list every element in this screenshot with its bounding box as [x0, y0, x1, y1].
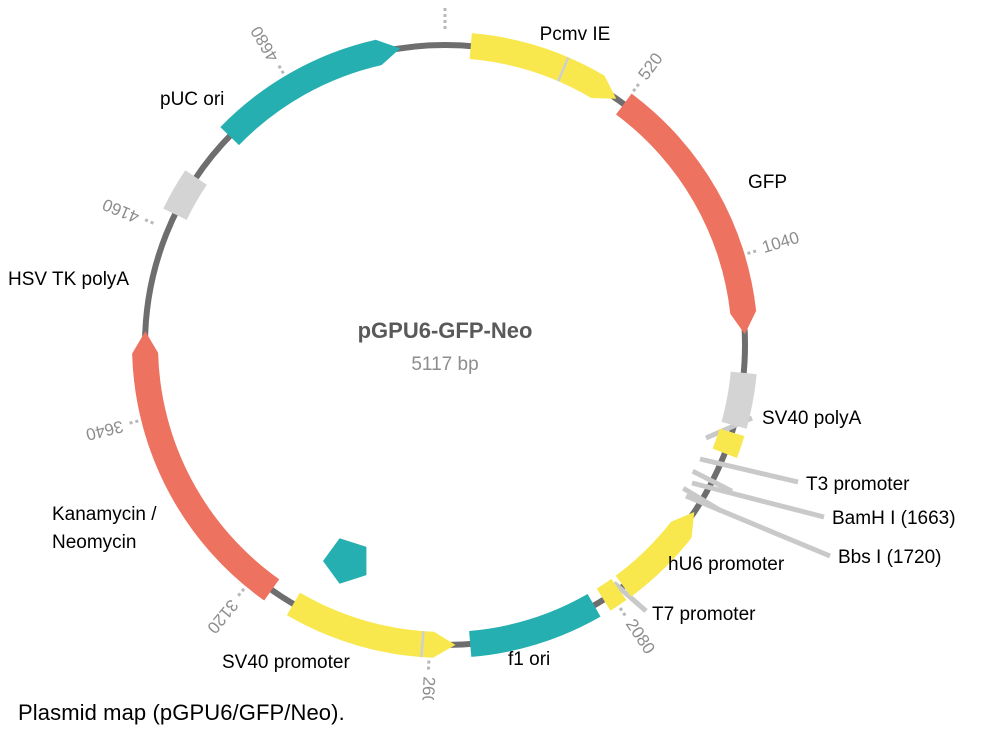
tick-mark-3120 [238, 589, 244, 597]
feature-label-f1-ori[interactable]: f1 ori [508, 649, 550, 670]
feature-label-bbs-i-1720[interactable]: Bbs I (1720) [838, 547, 942, 568]
tick-label-3120: 3120 [203, 596, 242, 637]
feature-kanamycin-neomycin[interactable] [132, 331, 279, 600]
tick-mark-3640 [129, 421, 139, 423]
tick-label-520: 520 [634, 49, 666, 83]
plasmid-name: pGPU6-GFP-Neo [358, 318, 533, 343]
plasmid-size: 5117 bp [411, 354, 478, 375]
feature-f1-ori[interactable] [469, 594, 600, 657]
feature-label-kanamycin-neomycin-line2[interactable]: Neomycin [52, 532, 136, 553]
tick-mark-2600 [428, 661, 429, 671]
tick-label-2600: 2600 [418, 676, 439, 700]
tick-label-1040: 1040 [760, 228, 802, 257]
tick-mark-4160 [144, 219, 153, 223]
plasmid-map-figure: 5201040208026003120364041604680 Pcmv IEG… [0, 0, 982, 744]
tick-label-3640: 3640 [84, 417, 125, 445]
plasmid-circular-map: 5201040208026003120364041604680 Pcmv IEG… [0, 0, 982, 700]
feature-label-puc-ori[interactable]: pUC ori [160, 89, 224, 110]
feature-label-bamh-i-1663[interactable]: BamH I (1663) [832, 508, 956, 529]
feature-label-t7-promoter[interactable]: T7 promoter [652, 604, 756, 625]
feature-sv40-ori[interactable] [323, 538, 366, 584]
feature-puc-ori[interactable] [220, 40, 400, 145]
feature-label-sv40-polya[interactable]: SV40 polyA [762, 408, 862, 429]
feature-label-hsv-tk-polya[interactable]: HSV TK polyA [8, 269, 129, 290]
tick-label-4680: 4680 [247, 23, 283, 65]
feature-sv40-promoter[interactable] [287, 593, 456, 658]
feature-label-hu6-promoter[interactable]: hU6 promoter [668, 554, 785, 575]
feature-layer [132, 33, 757, 658]
feature-label-kanamycin-neomycin[interactable]: Kanamycin / [52, 504, 157, 525]
tick-mark-2080 [620, 608, 626, 616]
feature-hsv-tk-polya[interactable] [163, 170, 207, 220]
feature-label-gfp[interactable]: GFP [748, 172, 787, 193]
feature-gfp[interactable] [616, 94, 756, 335]
feature-label-pcmv-ie[interactable]: Pcmv IE [540, 24, 611, 45]
leader-line-bamh-i-1663 [692, 483, 824, 517]
feature-label-t3-promoter[interactable]: T3 promoter [806, 474, 910, 495]
feature-label-sv40-promoter[interactable]: SV40 promoter [222, 652, 350, 673]
tick-mark-1040 [747, 251, 757, 254]
tick-label-4160: 4160 [100, 195, 142, 227]
tick-mark-520 [633, 83, 639, 91]
tick-mark-4680 [278, 65, 283, 74]
figure-caption: Plasmid map (pGPU6/GFP/Neo). [18, 700, 345, 726]
